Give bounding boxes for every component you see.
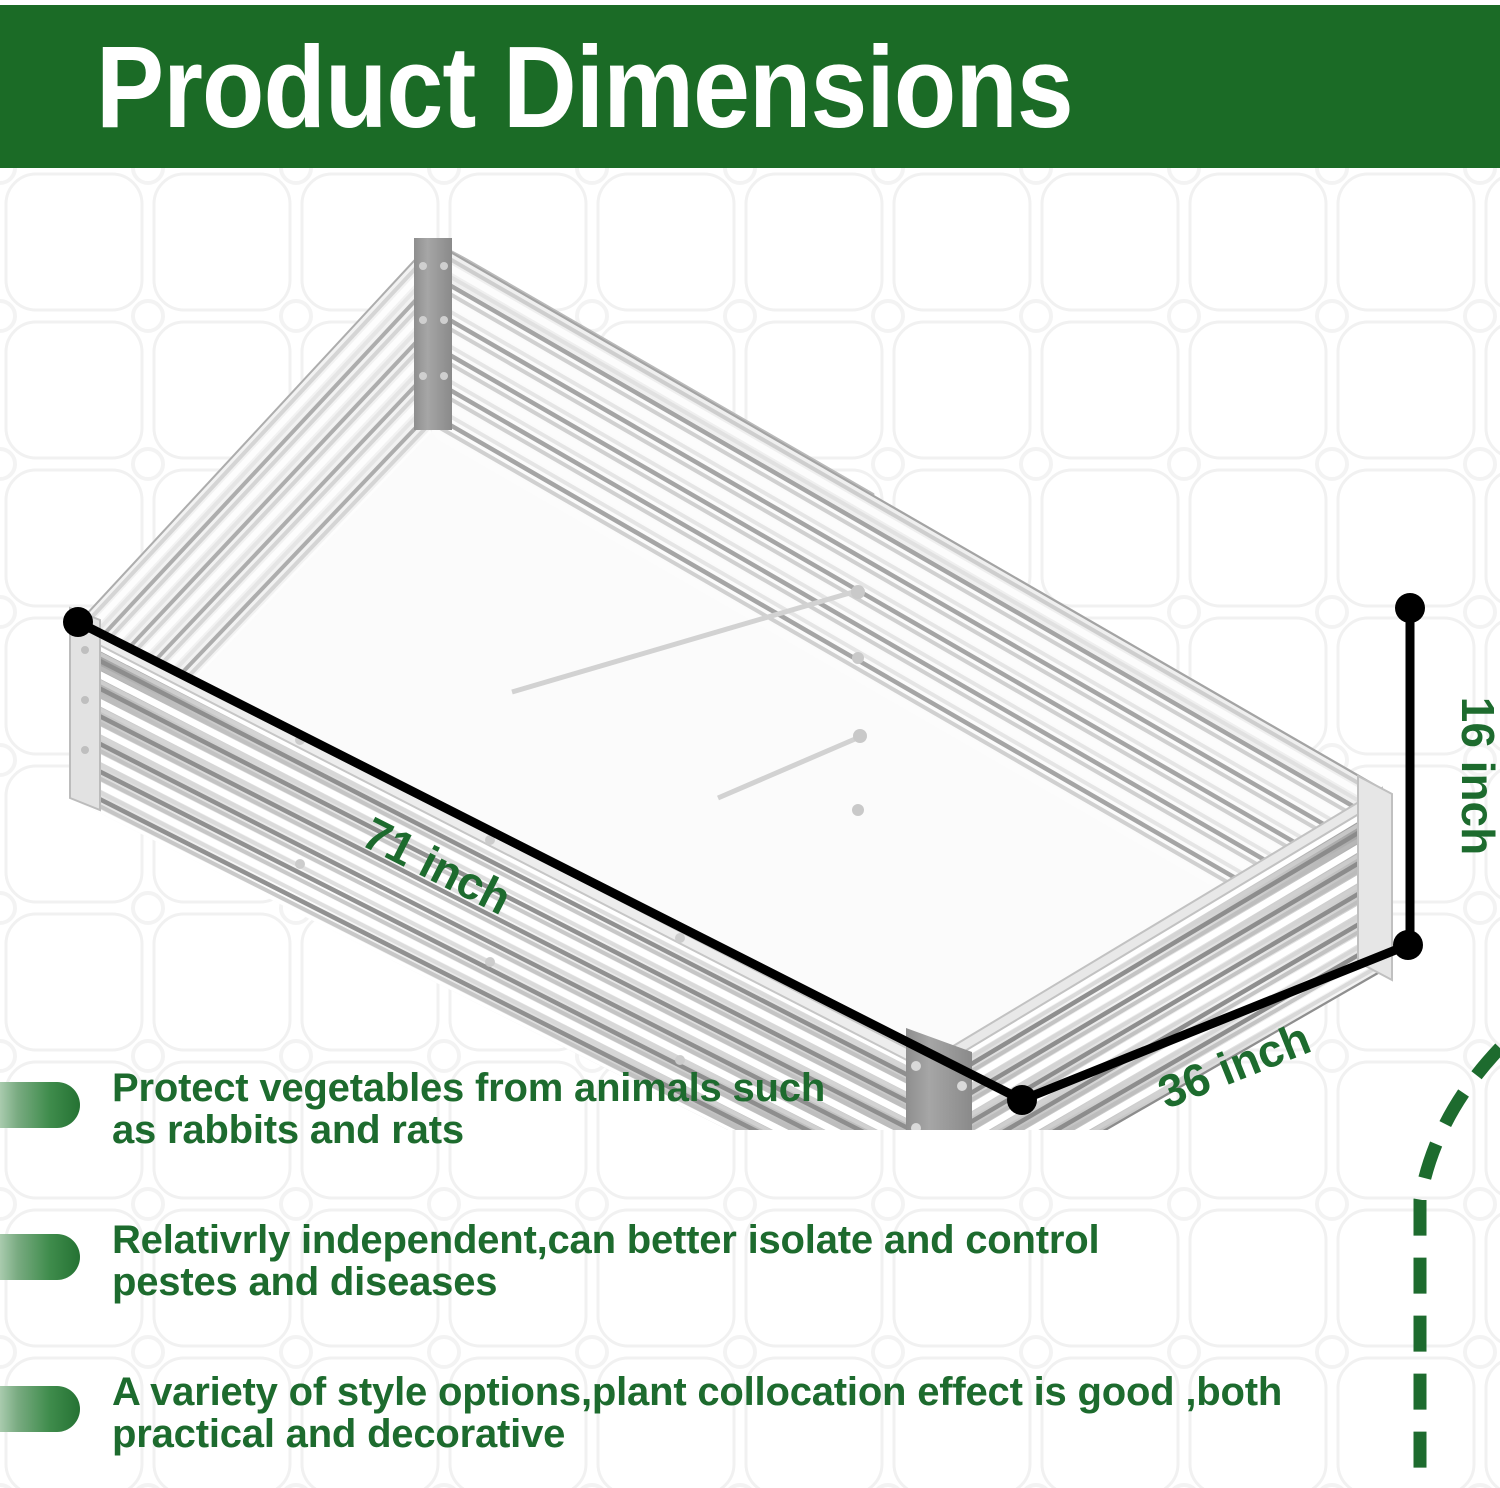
feature-text: Relativrly independent,can better isolat… — [112, 1220, 1099, 1303]
corner-post-far-right — [1358, 776, 1392, 980]
bullet-pill-icon — [0, 1234, 80, 1280]
list-item: Relativrly independent,can better isolat… — [0, 1220, 1500, 1372]
bullet-pill-icon — [0, 1386, 80, 1432]
list-item: Protect vegetables from animals such as … — [0, 1068, 1500, 1220]
product-dimensions-infographic: Product Dimensions — [0, 0, 1500, 1488]
corner-post-far — [414, 238, 452, 430]
list-item: A variety of style options,plant colloca… — [0, 1372, 1500, 1488]
feature-text: A variety of style options,plant colloca… — [112, 1372, 1282, 1455]
page-title: Product Dimensions — [96, 29, 1073, 145]
header-banner: Product Dimensions — [0, 5, 1500, 168]
product-illustration — [0, 180, 1500, 1130]
bullet-pill-icon — [0, 1082, 80, 1128]
corner-post-left — [70, 608, 100, 810]
feature-list: Protect vegetables from animals such as … — [0, 1068, 1500, 1488]
feature-text: Protect vegetables from animals such as … — [112, 1068, 825, 1151]
